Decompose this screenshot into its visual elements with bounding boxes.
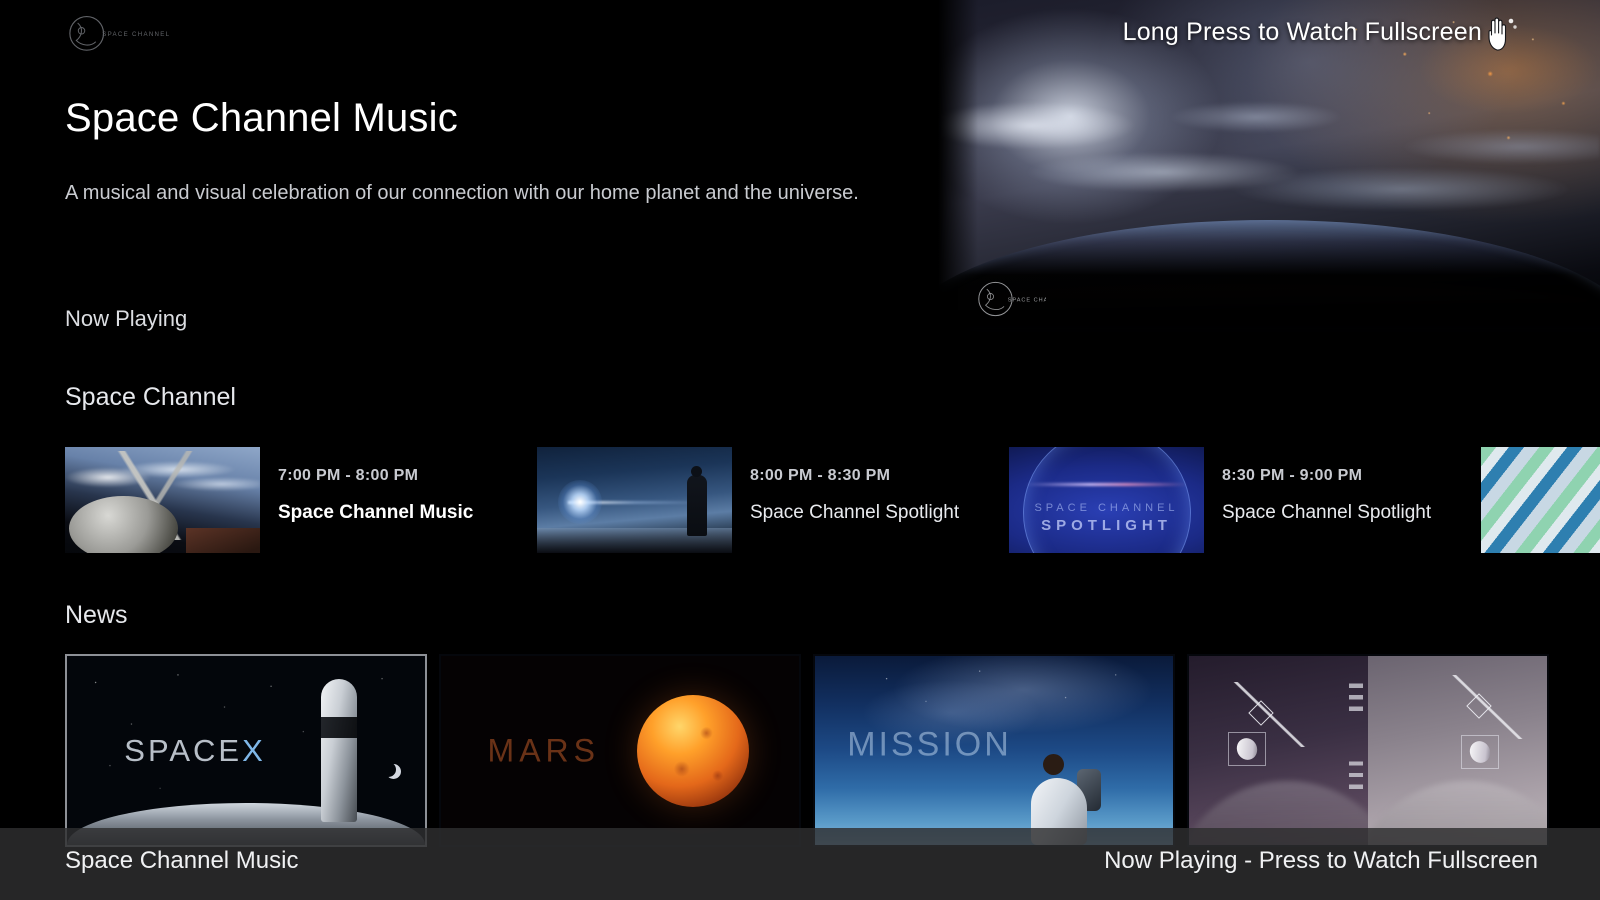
- schedule-time: 7:00 PM - 8:00 PM: [278, 467, 537, 485]
- spotlight-art-caption-top: SPACE CHANNEL: [1009, 502, 1204, 514]
- mars-globe-art: [637, 695, 749, 807]
- news-card-art-text: SPACEX: [124, 733, 265, 769]
- spotlight-streak-art: [1025, 483, 1189, 486]
- hero-video-player[interactable]: SPACE CHANNEL Long Press to Watch Fullsc…: [938, 0, 1600, 342]
- schedule-program-name: Space Channel Music: [278, 502, 537, 524]
- silhouette-person-art: [687, 475, 707, 536]
- rocket-art: [321, 679, 357, 823]
- schedule-thumbnail[interactable]: [65, 447, 260, 553]
- space-channel-logo-icon: SPACE CHANNEL: [66, 10, 176, 58]
- ufo-pane-left: [1189, 656, 1368, 845]
- tv-app-screen: SPACE CHANNEL Long Press to Watch Fullsc…: [0, 0, 1600, 900]
- news-card-ufo[interactable]: [1187, 654, 1549, 847]
- schedule-thumbnail[interactable]: [537, 447, 732, 553]
- bottom-fullscreen-hint[interactable]: Now Playing - Press to Watch Fullscreen: [1104, 847, 1538, 875]
- schedule-item[interactable]: [1481, 447, 1600, 553]
- space-channel-watermark-icon: SPACE CHANNEL: [972, 272, 1046, 326]
- schedule-item[interactable]: 8:00 PM - 8:30 PM Space Channel Spotligh…: [537, 447, 1009, 553]
- ufo-hud-marks: [1349, 675, 1363, 819]
- spotlight-ring-art: [1023, 447, 1191, 553]
- schedule-program-name: Space Channel Spotlight: [750, 502, 1009, 524]
- horizon-flare-art: [558, 480, 602, 524]
- schedule-time: 8:30 PM - 9:00 PM: [1222, 467, 1481, 485]
- schedule-meta: 8:00 PM - 8:30 PM Space Channel Spotligh…: [732, 447, 1009, 524]
- schedule-item[interactable]: 7:00 PM - 8:00 PM Space Channel Music: [65, 447, 537, 553]
- ufo-object-art: [1228, 732, 1266, 766]
- news-section-label: News: [65, 601, 128, 630]
- svg-text:SPACE CHANNEL: SPACE CHANNEL: [1008, 297, 1046, 303]
- bottom-status-bar: Space Channel Music Now Playing - Press …: [0, 828, 1600, 900]
- channel-schedule-row[interactable]: 7:00 PM - 8:00 PM Space Channel Music 8:…: [65, 447, 1600, 553]
- ufo-object-art: [1461, 735, 1499, 769]
- schedule-item[interactable]: SPACE CHANNEL SPOTLIGHT 8:30 PM - 9:00 P…: [1009, 447, 1481, 553]
- schedule-time: 8:00 PM - 8:30 PM: [750, 467, 1009, 485]
- news-card-mission[interactable]: MISSION: [813, 654, 1175, 847]
- bottom-now-playing-title: Space Channel Music: [65, 847, 298, 875]
- schedule-meta: 7:00 PM - 8:00 PM Space Channel Music: [260, 447, 537, 524]
- iss-module-art: [69, 496, 178, 553]
- news-card-spacex[interactable]: SPACEX: [65, 654, 427, 847]
- now-playing-section-label: Now Playing: [65, 306, 187, 332]
- hero-fullscreen-hint: Long Press to Watch Fullscreen: [1123, 18, 1482, 47]
- news-card-mars[interactable]: MARS: [439, 654, 801, 847]
- iss-module-secondary-art: [186, 528, 260, 553]
- page-description: A musical and visual celebration of our …: [65, 178, 905, 209]
- news-row[interactable]: SPACEX MARS MISSION: [65, 654, 1600, 854]
- ufo-infrared-footage-art: [1189, 656, 1547, 845]
- space-channel-section-label: Space Channel: [65, 383, 236, 412]
- schedule-thumbnail[interactable]: [1481, 447, 1600, 553]
- schedule-program-name: Space Channel Spotlight: [1222, 502, 1481, 524]
- spotlight-art-caption-main: SPOTLIGHT: [1009, 517, 1204, 534]
- schedule-meta: 8:30 PM - 9:00 PM Space Channel Spotligh…: [1204, 447, 1481, 524]
- svg-text:SPACE CHANNEL: SPACE CHANNEL: [102, 31, 170, 38]
- page-title: Space Channel Music: [65, 96, 458, 141]
- green-teal-abstract-art: [1481, 447, 1600, 553]
- ufo-pane-right: [1368, 656, 1547, 845]
- pointing-hand-icon[interactable]: [1484, 14, 1518, 52]
- ufo-reticle-art: [1432, 675, 1543, 739]
- news-card-art-text: MARS: [488, 732, 600, 769]
- schedule-thumbnail[interactable]: SPACE CHANNEL SPOTLIGHT: [1009, 447, 1204, 553]
- news-card-art-text: MISSION: [847, 725, 1012, 764]
- astronaut-head-art: [1043, 754, 1064, 775]
